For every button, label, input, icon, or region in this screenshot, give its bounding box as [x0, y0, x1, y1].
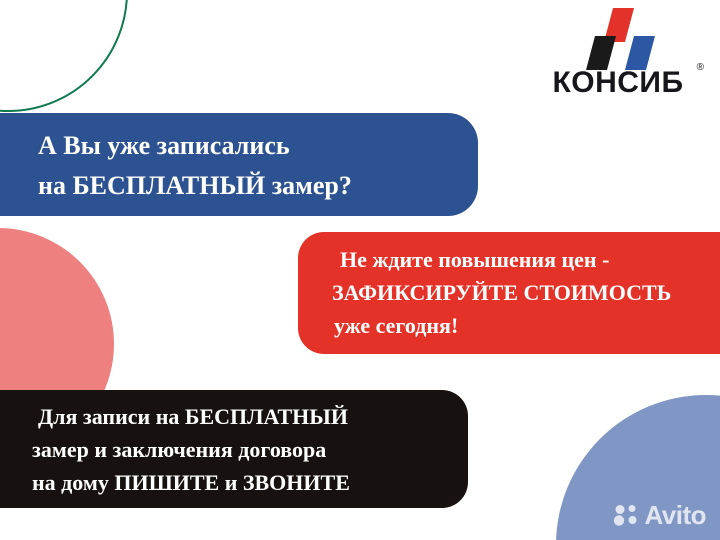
banner-red-line-3: уже сегодня! [332, 309, 720, 342]
registered-trademark-symbol: ® [697, 62, 704, 73]
avito-logo-icon [613, 504, 639, 526]
banner-red-line-2: ЗАФИКСИРУЙТЕ СТОИМОСТЬ [332, 276, 720, 309]
promo-poster: КОНСИБ ® А Вы уже записались на БЕСПЛАТН… [0, 0, 720, 540]
banner-black-line-3: на дому ПИШИТЕ и ЗВОНИТЕ [32, 466, 468, 499]
banner-red-line-1: Не ждите повышения цен - [332, 243, 720, 276]
banner-black-line-2: замер и заключения договора [32, 433, 468, 466]
company-logo: КОНСИБ ® [530, 8, 706, 108]
company-logo-wordmark: КОНСИБ [530, 68, 706, 98]
banner-blue-line-1: А Вы уже записались [38, 126, 478, 166]
decorative-green-circle-outline [0, 0, 128, 112]
banner-blue-line-2: на БЕСПЛАТНЫЙ замер? [38, 166, 478, 206]
urgency-banner-red: Не ждите повышения цен - ЗАФИКСИРУЙТЕ СТ… [298, 232, 720, 354]
banner-black-line-1: Для записи на БЕСПЛАТНЫЙ [32, 400, 468, 433]
headline-banner-blue: А Вы уже записались на БЕСПЛАТНЫЙ замер? [0, 113, 478, 216]
konsib-logo-mark-icon [586, 8, 664, 70]
avito-watermark: Avito [613, 502, 706, 528]
cta-banner-black: Для записи на БЕСПЛАТНЫЙ замер и заключе… [0, 390, 468, 508]
avito-watermark-label: Avito [644, 502, 706, 528]
